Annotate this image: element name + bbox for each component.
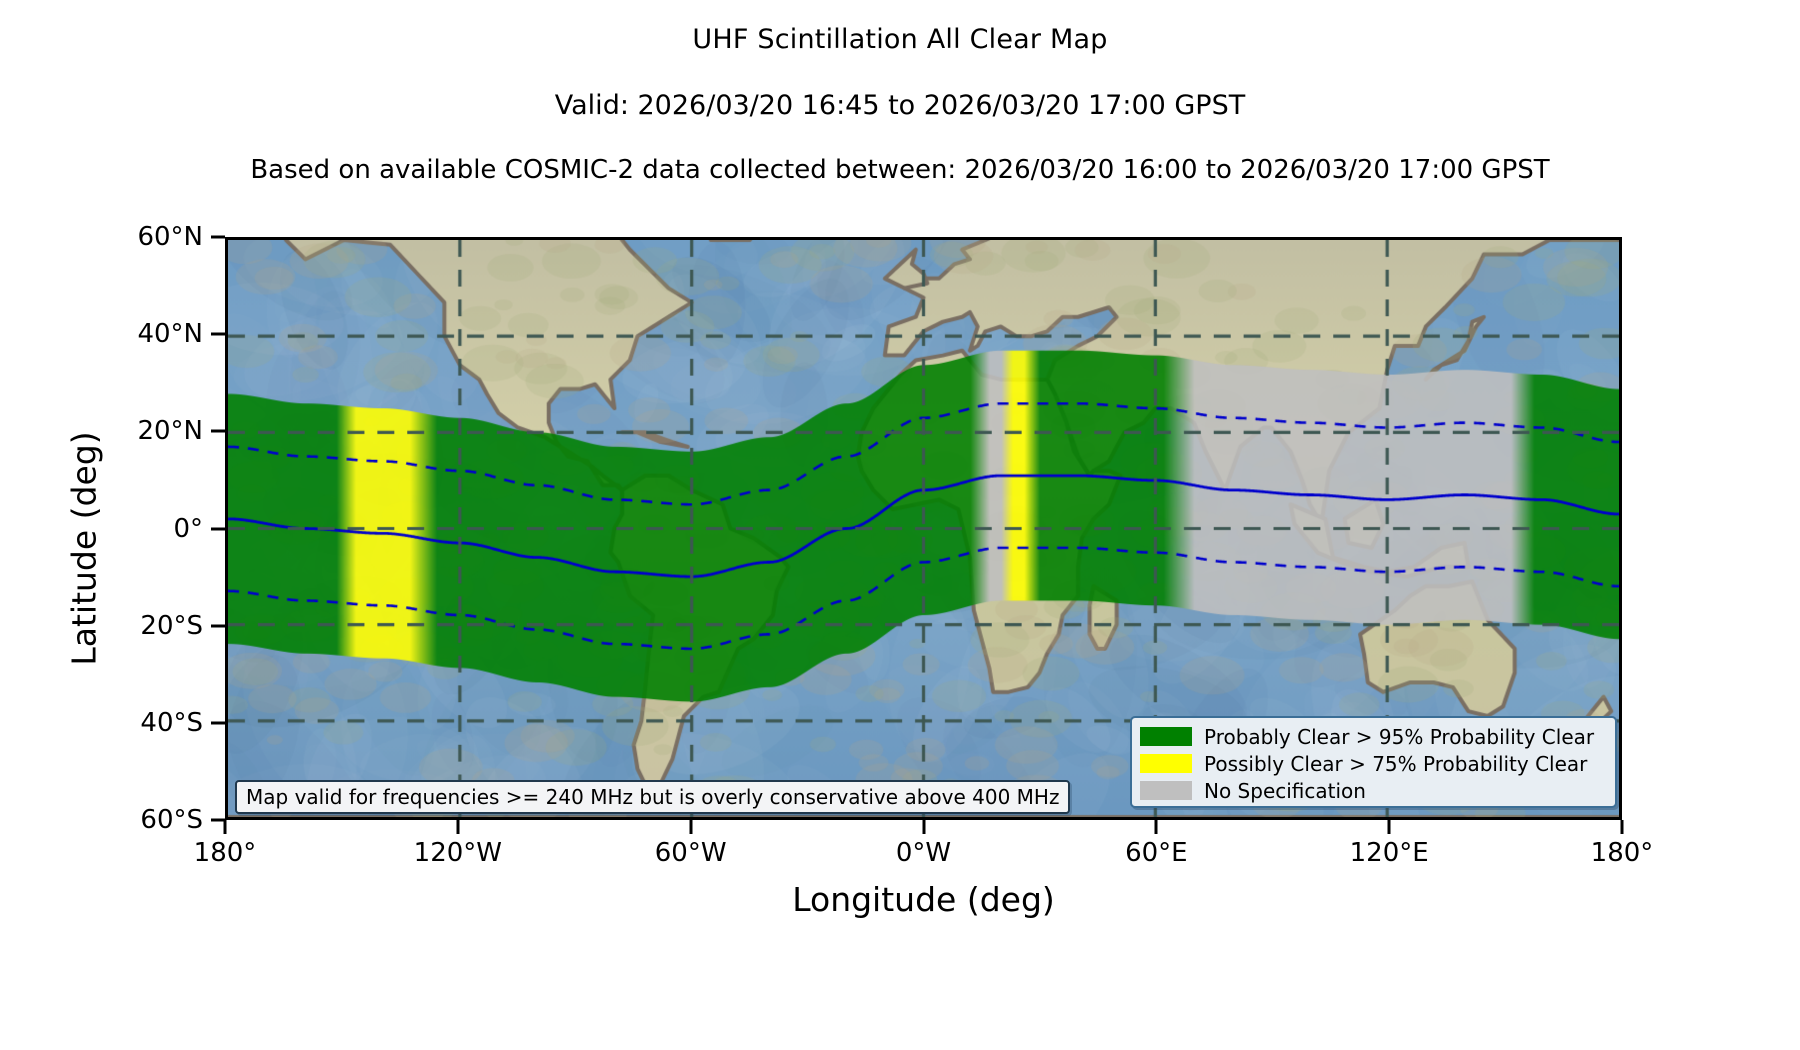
x-tick-mark xyxy=(456,820,459,834)
legend-swatch-probably-clear xyxy=(1140,727,1192,746)
y-tick-mark xyxy=(211,333,225,336)
y-tick-label: 60°S xyxy=(0,805,203,835)
page-title: UHF Scintillation All Clear Map xyxy=(0,24,1800,55)
title-block: UHF Scintillation All Clear Map Valid: 2… xyxy=(0,0,1800,185)
x-tick-mark xyxy=(689,820,692,834)
validity-subtitle: Valid: 2026/03/20 16:45 to 2026/03/20 17… xyxy=(0,90,1800,121)
y-tick-mark xyxy=(211,430,225,433)
legend-label-possibly-clear: Possibly Clear > 75% Probability Clear xyxy=(1204,752,1587,776)
x-tick-mark xyxy=(1621,820,1624,834)
map-plot-area[interactable]: Probably Clear > 95% Probability Clear P… xyxy=(225,237,1622,820)
x-tick-label: 180° xyxy=(105,838,345,868)
legend-swatch-no-specification xyxy=(1140,781,1192,800)
x-tick-label: 60°E xyxy=(1036,838,1276,868)
legend-label-no-specification: No Specification xyxy=(1204,779,1366,803)
legend: Probably Clear > 95% Probability Clear P… xyxy=(1130,716,1617,808)
y-tick-label: 0° xyxy=(0,514,203,544)
x-tick-mark xyxy=(1388,820,1391,834)
y-tick-mark xyxy=(211,236,225,239)
legend-item: No Specification xyxy=(1140,777,1607,804)
data-source-note: Based on available COSMIC-2 data collect… xyxy=(0,155,1800,185)
y-tick-mark xyxy=(211,624,225,627)
y-axis-label: Latitude (deg) xyxy=(65,269,104,829)
legend-item: Probably Clear > 95% Probability Clear xyxy=(1140,723,1607,750)
x-tick-mark xyxy=(224,820,227,834)
x-tick-label: 0°W xyxy=(804,838,1044,868)
legend-item: Possibly Clear > 75% Probability Clear xyxy=(1140,750,1607,777)
legend-swatch-possibly-clear xyxy=(1140,754,1192,773)
y-tick-label: 40°N xyxy=(0,319,203,349)
y-tick-label: 40°S xyxy=(0,708,203,738)
x-tick-mark xyxy=(922,820,925,834)
legend-label-probably-clear: Probably Clear > 95% Probability Clear xyxy=(1204,725,1594,749)
x-tick-label: 60°W xyxy=(571,838,811,868)
y-tick-mark xyxy=(211,721,225,724)
x-axis-label: Longitude (deg) xyxy=(225,880,1622,919)
y-tick-label: 60°N xyxy=(0,222,203,252)
x-tick-label: 180° xyxy=(1502,838,1742,868)
x-tick-label: 120°W xyxy=(338,838,578,868)
y-tick-label: 20°N xyxy=(0,416,203,446)
frequency-validity-note: Map valid for frequencies >= 240 MHz but… xyxy=(235,780,1070,814)
x-tick-mark xyxy=(1155,820,1158,834)
y-tick-mark xyxy=(211,527,225,530)
y-tick-label: 20°S xyxy=(0,611,203,641)
x-tick-label: 120°E xyxy=(1269,838,1509,868)
